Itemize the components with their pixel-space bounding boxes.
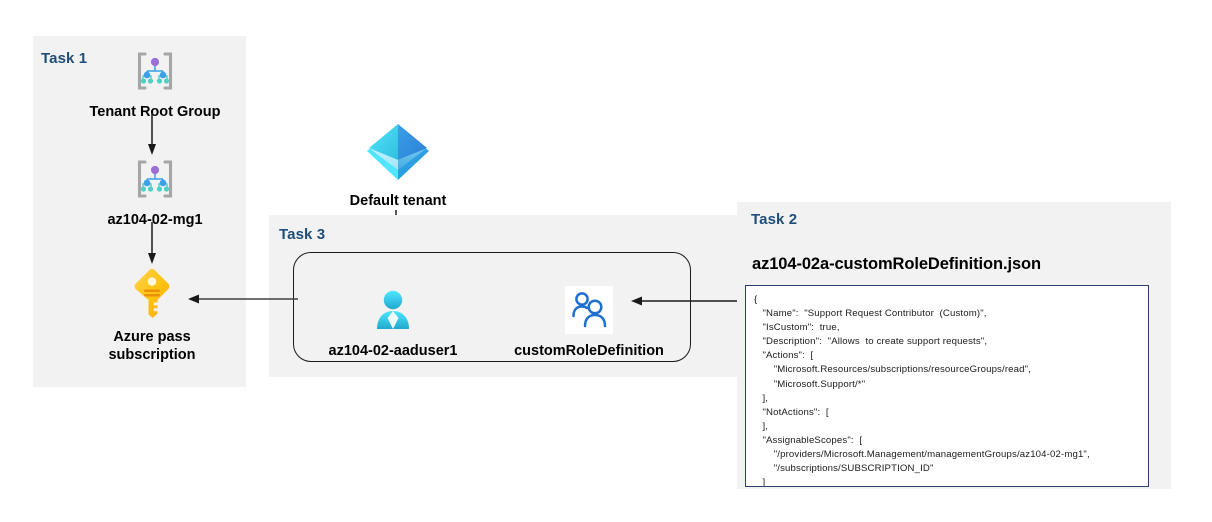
node-caption: az104-02-aaduser1: [313, 342, 473, 360]
json-line: ],: [754, 420, 1148, 434]
json-line: "IsCustom": true,: [754, 321, 1148, 335]
json-line: {: [754, 293, 1148, 307]
task-2-label: Task 2: [751, 211, 797, 228]
diagram-canvas: Task 1 Tenant Root Group: [0, 0, 1212, 522]
arrow-mg1-to-subscription: [148, 222, 162, 266]
node-azure-pass-subscription: Azure pass subscription: [82, 266, 222, 364]
node-caption: customRoleDefinition: [500, 342, 678, 360]
node-caption-line1: Azure pass: [82, 328, 222, 346]
json-line: "Name": "Support Request Contributor (Cu…: [754, 307, 1148, 321]
json-line: "/subscriptions/SUBSCRIPTION_ID": [754, 462, 1148, 476]
node-caption-line2: subscription: [82, 346, 222, 364]
management-group-icon: [75, 47, 235, 100]
node-tenant-root-group: Tenant Root Group: [75, 47, 235, 121]
json-line: "/providers/Microsoft.Management/managem…: [754, 448, 1148, 462]
user-icon: [313, 288, 473, 339]
management-group-icon: [80, 155, 230, 208]
azure-ad-tenant-icon: [333, 120, 463, 189]
role-users-icon: [500, 286, 678, 339]
json-line: "Actions": [: [754, 349, 1148, 363]
node-az104-02-mg1: az104-02-mg1: [80, 155, 230, 229]
json-file-name: az104-02a-customRoleDefinition.json: [752, 255, 1041, 274]
json-line: ],: [754, 392, 1148, 406]
json-line: "Description": "Allows to create support…: [754, 335, 1148, 349]
json-line: "Microsoft.Resources/subscriptions/resou…: [754, 363, 1148, 377]
task-3-label: Task 3: [279, 226, 325, 243]
arrow-json-to-customroledefinition: [629, 296, 747, 310]
json-line: "AssignableScopes": [: [754, 434, 1148, 448]
json-line: ]: [754, 476, 1148, 487]
node-default-tenant: Default tenant: [333, 120, 463, 210]
json-line: "Microsoft.Support/*": [754, 378, 1148, 392]
json-content-card: { "Name": "Support Request Contributor (…: [745, 285, 1149, 487]
arrow-tenantroot-to-mg1: [148, 113, 162, 157]
node-caption: Default tenant: [333, 192, 463, 210]
node-az104-02-aaduser1: az104-02-aaduser1: [313, 288, 473, 360]
arrow-task3-to-subscription: [186, 294, 304, 308]
json-line: "NotActions": [: [754, 406, 1148, 420]
